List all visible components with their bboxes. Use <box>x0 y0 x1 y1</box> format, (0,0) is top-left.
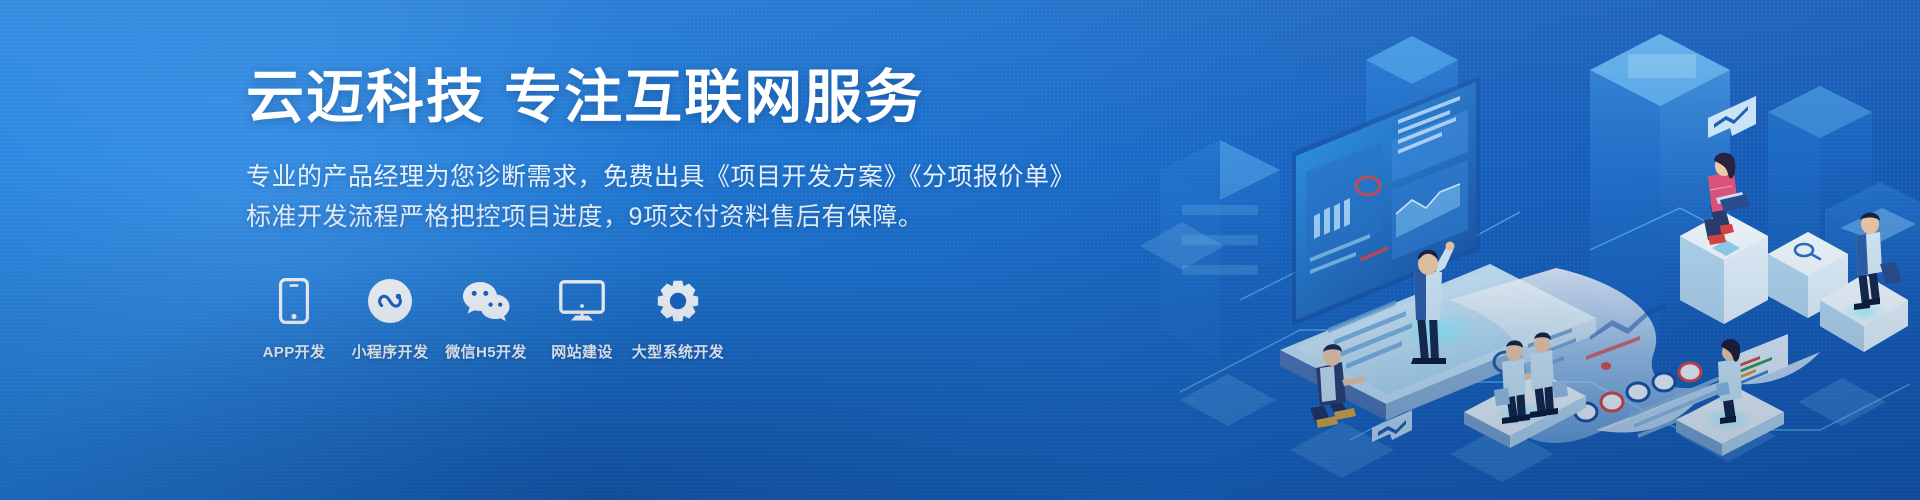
subtitle-line-1: 专业的产品经理为您诊断需求，免费出具《项目开发方案》《分项报价单》 <box>246 157 1126 197</box>
subtitle-line-2: 标准开发流程严格把控项目进度，9项交付资料售后有保障。 <box>246 197 1126 237</box>
promo-banner: 云迈科技 专注互联网服务 专业的产品经理为您诊断需求，免费出具《项目开发方案》《… <box>0 0 1920 500</box>
service-list: APP开发 小程序开发 <box>246 275 1126 362</box>
service-item-wechat-h5[interactable]: 微信H5开发 <box>438 275 534 362</box>
service-item-app[interactable]: APP开发 <box>246 275 342 362</box>
service-label: 大型系统开发 <box>632 341 724 362</box>
gear-icon <box>656 275 700 327</box>
mobile-phone-icon <box>279 275 309 327</box>
service-item-website[interactable]: 网站建设 <box>534 275 630 362</box>
service-item-mini-program[interactable]: 小程序开发 <box>342 275 438 362</box>
person-pedestal-laptop <box>1680 96 1768 324</box>
service-label: APP开发 <box>263 341 326 362</box>
persons-bottom-pad <box>1464 332 1586 448</box>
person-right-blocks <box>1768 213 1908 352</box>
service-item-large-system[interactable]: 大型系统开发 <box>630 275 726 362</box>
mini-program-icon <box>367 275 413 327</box>
service-label: 网站建设 <box>551 341 613 362</box>
page-title: 云迈科技 专注互联网服务 <box>246 66 1126 131</box>
wechat-icon <box>461 275 511 327</box>
person-presenter <box>1411 242 1455 365</box>
person-bottom-right-pad <box>1676 339 1784 456</box>
person-seated-left <box>1310 344 1366 428</box>
isometric-data-platform-illustration <box>1120 0 1920 500</box>
service-label: 小程序开发 <box>351 341 428 362</box>
monitor-icon <box>559 275 605 327</box>
banner-content: 云迈科技 专注互联网服务 专业的产品经理为您诊断需求，免费出具《项目开发方案》《… <box>246 66 1126 362</box>
service-label: 微信H5开发 <box>445 341 527 362</box>
